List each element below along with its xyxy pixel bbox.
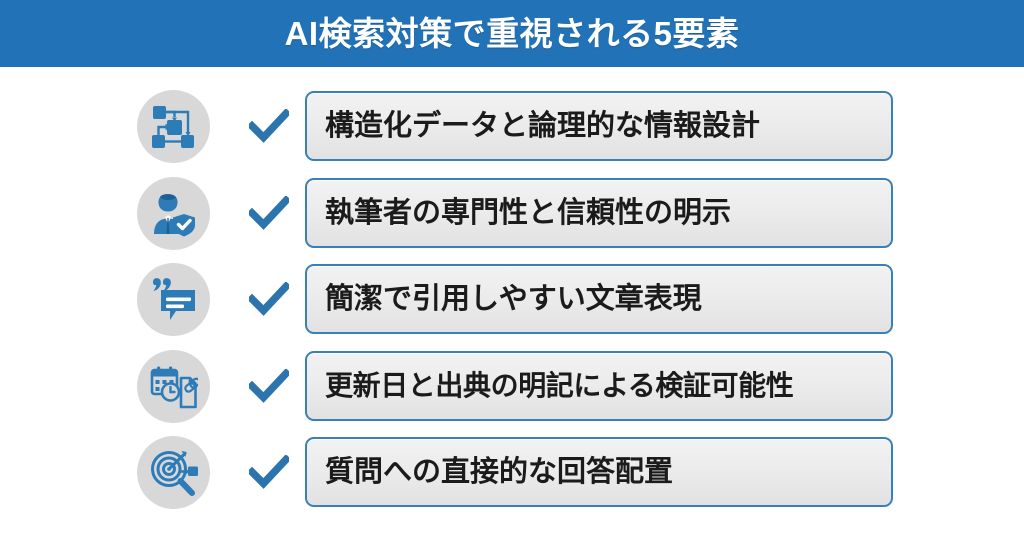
check-icon	[247, 279, 291, 319]
item-text-box[interactable]: 執筆者の専門性と信頼性の明示	[305, 178, 893, 248]
list-item-label: 質問への直接的な回答配置	[325, 458, 673, 487]
quote-speech-bubble-icon	[137, 263, 210, 336]
list-item[interactable]: 執筆者の専門性と信頼性の明示	[0, 175, 1024, 251]
list-item-label: 執筆者の専門性と信頼性の明示	[325, 199, 731, 228]
list-item[interactable]: 質問への直接的な回答配置	[0, 434, 1024, 510]
check-icon	[247, 366, 291, 406]
item-text-box[interactable]: 簡潔で引用しやすい文章表現	[305, 264, 893, 334]
list-item-label: 更新日と出典の明記による検証可能性	[325, 372, 793, 400]
item-text-box[interactable]: 構造化データと論理的な情報設計	[305, 91, 893, 161]
person-shield-check-icon	[137, 177, 210, 250]
check-icon	[247, 106, 291, 146]
header-bar: AI検索対策で重視される5要素	[0, 0, 1024, 67]
list-item[interactable]: 簡潔で引用しやすい文章表現	[0, 261, 1024, 337]
checklist: 構造化データと論理的な情報設計 執筆者の専門性と信頼性の明示	[0, 67, 1024, 541]
watermark	[150, 512, 450, 538]
list-item-label: 構造化データと論理的な情報設計	[325, 112, 760, 141]
page-title: AI検索対策で重視される5要素	[285, 17, 740, 50]
list-item[interactable]: 構造化データと論理的な情報設計	[0, 88, 1024, 164]
check-icon	[247, 193, 291, 233]
target-magnifier-icon	[137, 436, 210, 509]
list-item[interactable]: 更新日と出典の明記による検証可能性	[0, 348, 1024, 424]
item-text-box[interactable]: 質問への直接的な回答配置	[305, 437, 893, 507]
check-icon	[247, 452, 291, 492]
list-item-label: 簡潔で引用しやすい文章表現	[325, 285, 702, 314]
item-text-box[interactable]: 更新日と出典の明記による検証可能性	[305, 351, 893, 421]
calendar-clock-document-link-icon	[137, 350, 210, 423]
flowchart-structure-icon	[137, 90, 210, 163]
